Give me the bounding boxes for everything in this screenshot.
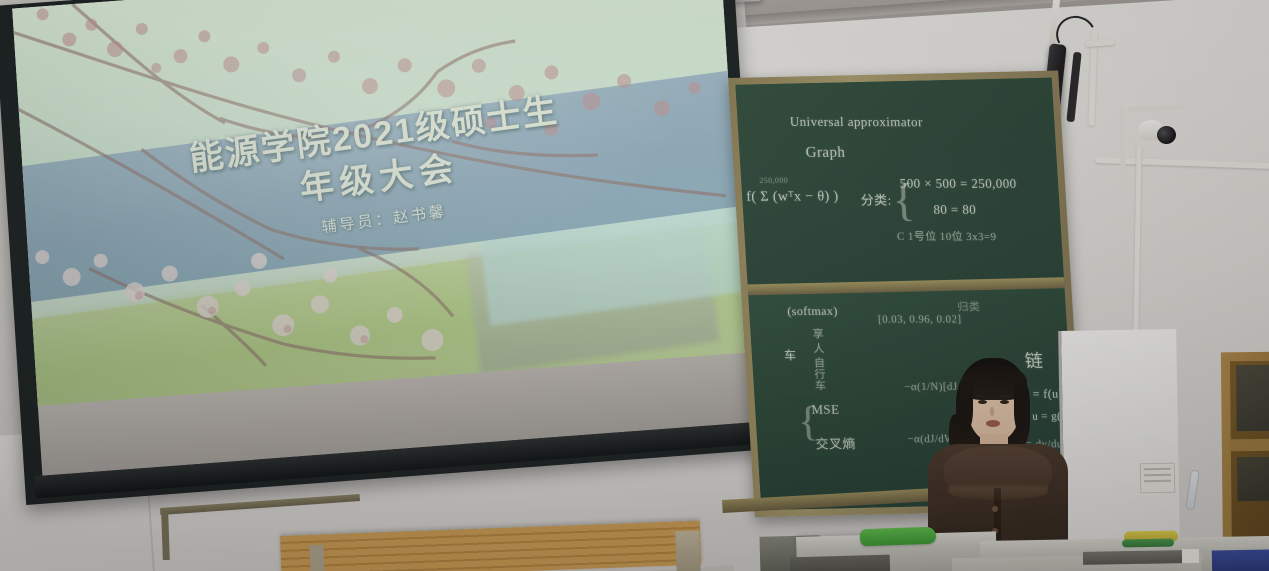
- chalk-softmax: (softmax): [787, 304, 838, 319]
- bench-post: [309, 545, 324, 571]
- projection-screen[interactable]: 能源学院2021级硕士生 年级大会 辅导员：赵书馨: [0, 0, 764, 505]
- eye-left: [978, 400, 987, 404]
- chalk-line-graph: Graph: [805, 145, 845, 162]
- chalk-number-250000: 250,000: [759, 176, 788, 185]
- green-tray: [1122, 539, 1174, 548]
- classroom-scene: ViewSonic: [0, 0, 1269, 571]
- door-window-lower: [1237, 457, 1269, 501]
- green-cloth: [860, 527, 937, 547]
- hair-side-left: [959, 380, 973, 430]
- bench-end-cap: [675, 531, 701, 571]
- chalk-crossentropy: 交叉熵: [815, 434, 856, 453]
- blackboard-top-panel: Universal approximator Graph f( Σ (wᵀx −…: [735, 78, 1063, 285]
- chalk-eq-500x500: 500 × 500 = 250,000: [899, 176, 1016, 192]
- chalk-brace-bottom: {: [797, 398, 820, 446]
- chalk-vector: [0.03, 0.96, 0.02]: [878, 314, 962, 326]
- whiteboard: [1058, 329, 1180, 546]
- nose: [990, 407, 994, 416]
- notice-line: [1144, 468, 1171, 470]
- door-rail: [1231, 439, 1269, 452]
- podium-control-slot[interactable]: [1083, 550, 1183, 565]
- wall-notice: [1140, 463, 1176, 494]
- projection-screen-surface: 能源学院2021级硕士生 年级大会 辅导员：赵书馨: [12, 0, 746, 408]
- eyebrow-right: [999, 395, 1010, 397]
- notice-line: [1144, 474, 1171, 476]
- white-tag: [1182, 549, 1199, 563]
- door-window-upper: [1236, 365, 1269, 431]
- chalk-line-universal: Universal approximator: [790, 114, 923, 130]
- podium-shelf-cavity: [790, 555, 891, 571]
- mouth: [986, 420, 1000, 427]
- chalk-che: 车: [784, 347, 797, 364]
- chalk-brace-top: {: [892, 173, 917, 226]
- chalk-label-classify: 分类:: [860, 190, 892, 209]
- eyebrow-left: [977, 395, 988, 397]
- presentation-slide: 能源学院2021级硕士生 年级大会 辅导员：赵书馨: [12, 0, 746, 408]
- notice-line: [1144, 480, 1171, 482]
- blue-box: [1212, 549, 1269, 571]
- eye-right: [1000, 400, 1009, 404]
- chalk-line-positions: C 1号位 10位 3x3=9: [897, 228, 997, 244]
- blouse-button: [992, 506, 998, 512]
- chalk-categories: 享 人 自行车: [809, 328, 828, 391]
- chalk-formula-sum: f( Σ (wᵀx − θ) ): [746, 189, 839, 205]
- chalk-guilei: 归类: [957, 299, 981, 315]
- chalk-eq-80: 80 = 80: [933, 202, 976, 218]
